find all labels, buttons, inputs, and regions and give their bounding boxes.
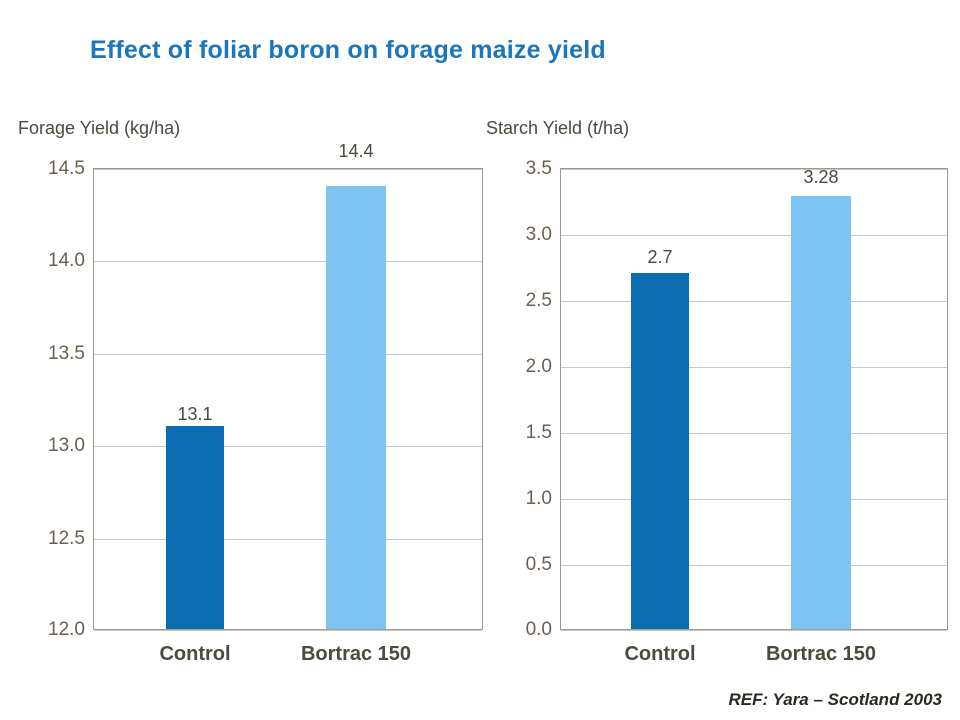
gridline: 3.5 (561, 169, 947, 170)
bar-control (631, 273, 689, 629)
page-title: Effect of foliar boron on forage maize y… (90, 36, 606, 65)
y-axis-tick-label: 2.5 (526, 290, 552, 312)
gridline: 12.0 (94, 630, 482, 631)
y-axis-tick-label: 14.0 (48, 250, 85, 272)
gridline: 13.0 (94, 446, 482, 447)
bar-control (166, 426, 224, 629)
bar-value-label: 13.1 (177, 404, 212, 425)
y-axis-tick-label: 12.5 (48, 528, 85, 550)
chart-forage-yield: Forage Yield (kg/ha) 14.5 14.0 13.5 13.0… (8, 118, 488, 678)
y-axis-tick-label: 13.0 (48, 435, 85, 457)
x-axis-tick-label: Control (624, 643, 695, 666)
gridline: 0.5 (561, 565, 947, 566)
y-axis-tick-label: 14.5 (48, 158, 85, 180)
gridline: 1.5 (561, 433, 947, 434)
y-axis-tick-label: 2.0 (526, 356, 552, 378)
bar-treatment (326, 186, 386, 629)
y-axis-tick-label: 1.0 (526, 488, 552, 510)
y-axis-tick-label: 0.0 (526, 619, 552, 641)
bar-value-label: 2.7 (647, 247, 672, 268)
plot-area: 3.5 3.0 2.5 2.0 1.5 1.0 0.5 0.0 2.7 3.28… (560, 168, 948, 630)
bar-value-label: 3.28 (803, 167, 838, 188)
y-axis-tick-label: 3.0 (526, 224, 552, 246)
y-axis-tick-label: 0.5 (526, 554, 552, 576)
chart-axis-title: Forage Yield (kg/ha) (18, 118, 180, 139)
y-axis-tick-label: 1.5 (526, 422, 552, 444)
plot-area: 14.5 14.0 13.5 13.0 12.5 12.0 13.1 14.4 … (93, 168, 483, 630)
chart-axis-title: Starch Yield (t/ha) (486, 118, 629, 139)
bar-value-label: 14.4 (338, 141, 373, 162)
y-axis-tick-label: 12.0 (48, 619, 85, 641)
chart-starch-yield: Starch Yield (t/ha) 3.5 3.0 2.5 2.0 1.5 … (482, 118, 952, 678)
gridline: 2.5 (561, 301, 947, 302)
gridline: 13.5 (94, 354, 482, 355)
gridline: 14.5 (94, 169, 482, 170)
x-axis-tick-label: Control (159, 643, 230, 666)
gridline: 1.0 (561, 499, 947, 500)
x-axis-tick-label: Bortrac 150 (301, 643, 411, 666)
gridline: 3.0 (561, 235, 947, 236)
x-axis-tick-label: Bortrac 150 (766, 643, 876, 666)
gridline: 14.0 (94, 261, 482, 262)
y-axis-tick-label: 13.5 (48, 343, 85, 365)
y-axis-tick-label: 3.5 (526, 158, 552, 180)
gridline: 12.5 (94, 539, 482, 540)
reference-note: REF: Yara – Scotland 2003 (728, 690, 942, 710)
gridline: 0.0 (561, 630, 947, 631)
bar-treatment (791, 196, 851, 629)
gridline: 2.0 (561, 367, 947, 368)
